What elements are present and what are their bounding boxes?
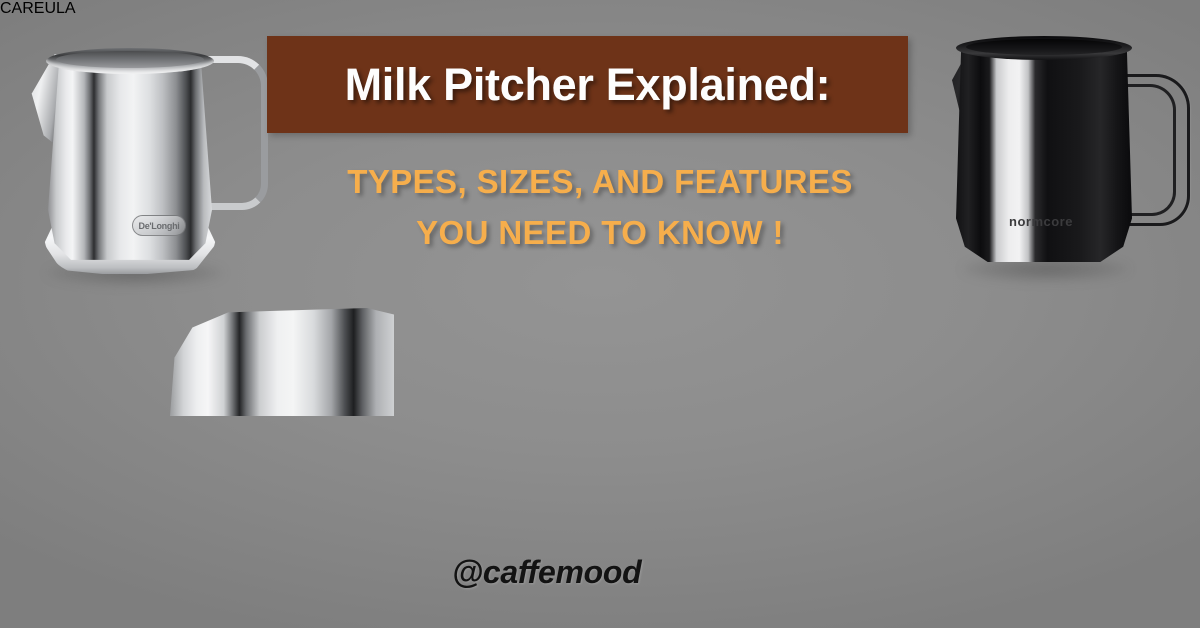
page-title: Milk Pitcher Explained:	[345, 59, 831, 111]
brand-logo-label: CAREULA	[0, 0, 76, 18]
pitcher-inner-rim	[56, 51, 204, 68]
product-image-careula-pitcher: CAREULA	[0, 0, 76, 18]
subtitle-line-2: YOU NEED TO KNOW !	[0, 214, 1200, 252]
subtitle-line-1: TYPES, SIZES, AND FEATURES	[0, 163, 1200, 201]
pitcher-inner-rim	[966, 39, 1122, 55]
pitcher-body-steel	[170, 308, 394, 416]
social-handle: @caffemood	[452, 554, 641, 591]
social-graphic-canvas: De'Longhi normcore CAREULA	[0, 0, 1200, 628]
title-banner: Milk Pitcher Explained:	[267, 36, 908, 133]
product-image-sleeve-pitcher	[152, 296, 416, 616]
